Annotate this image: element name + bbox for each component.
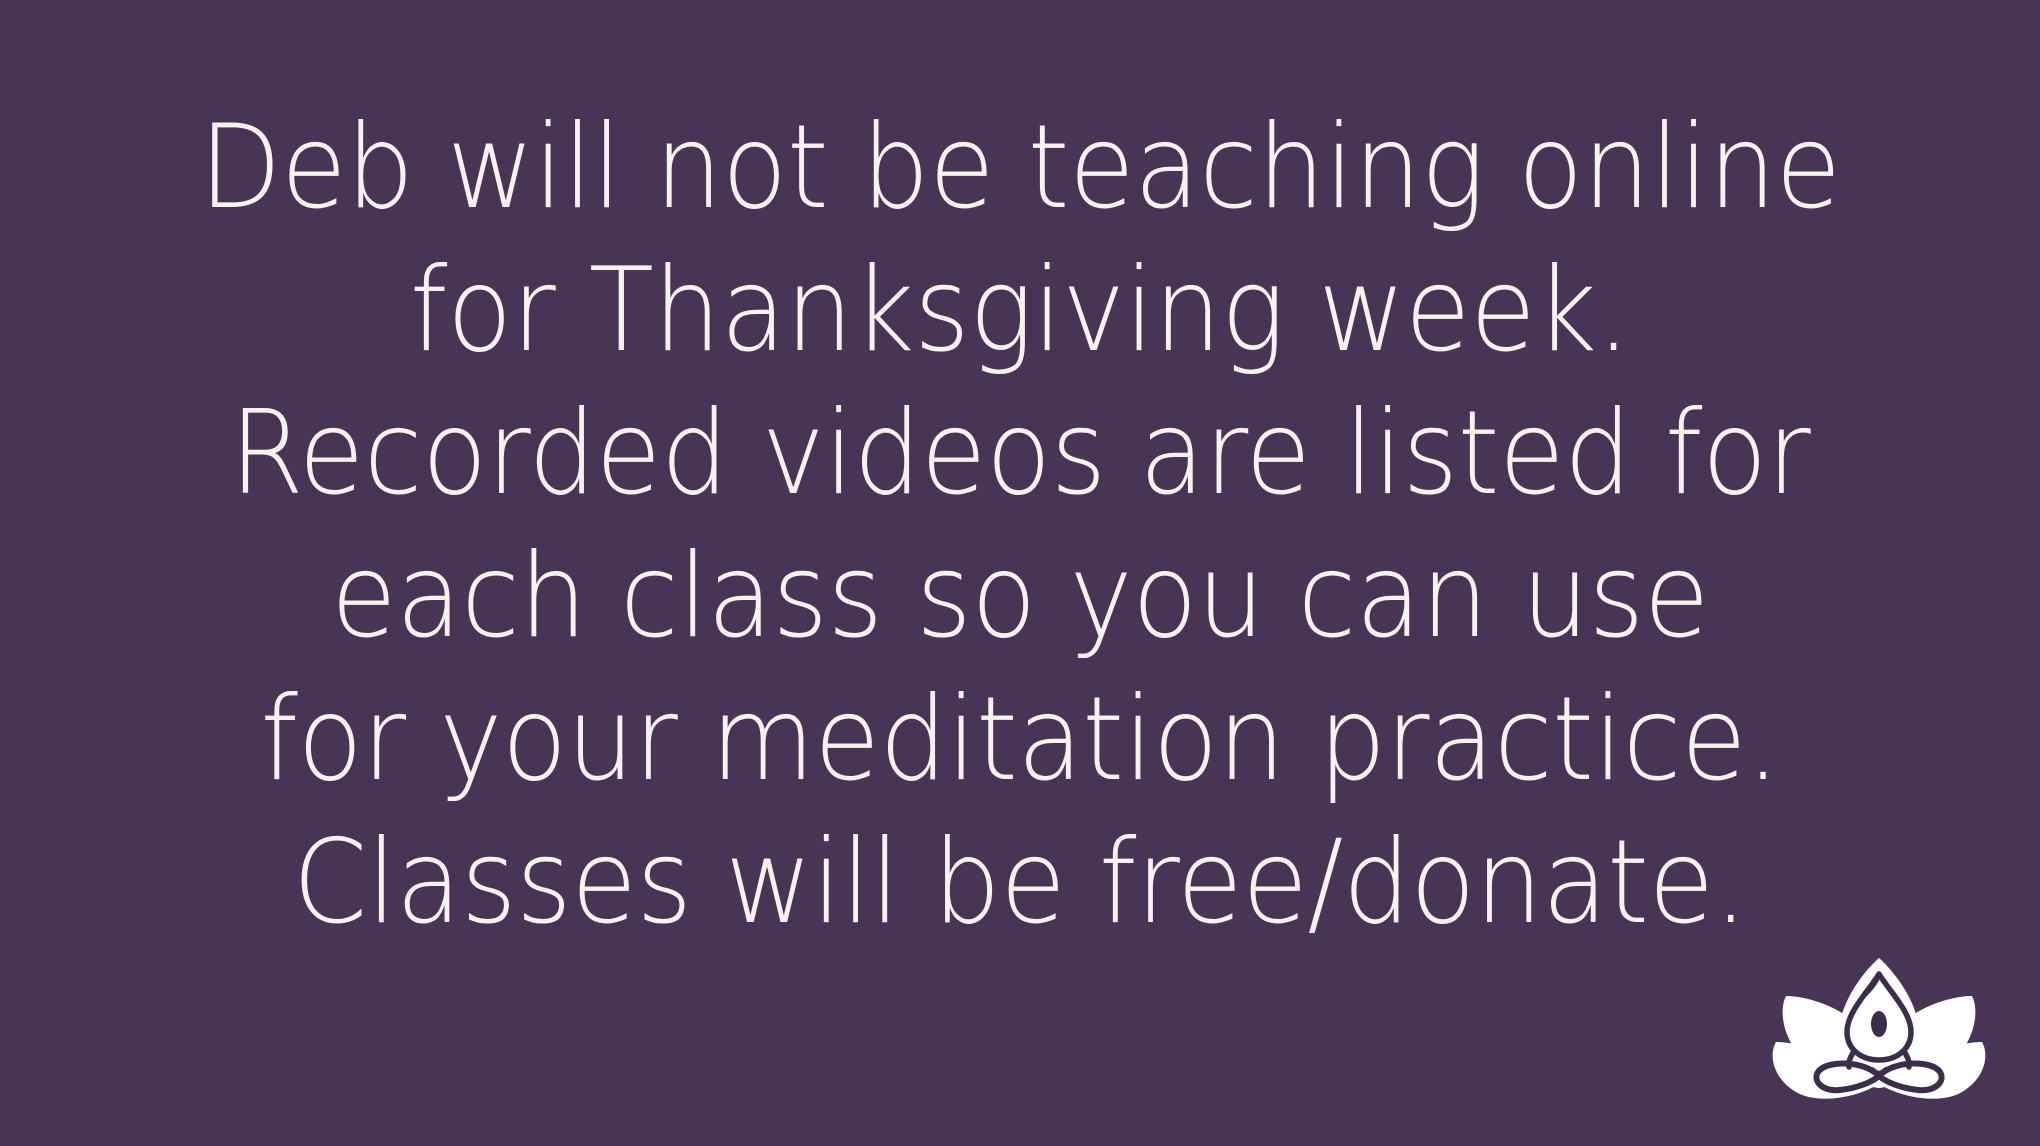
lotus-flame-icon (1768, 952, 1990, 1112)
announcement-line-5: for your meditation practice. (177, 668, 1862, 811)
announcement-line-1: Deb will not be teaching online (177, 96, 1862, 239)
announcement-text-block: Deb will not be teaching online for Than… (0, 0, 2040, 1146)
announcement-line-3: Recorded videos are listed for (177, 382, 1862, 525)
announcement-line-6: Classes will be free/donate. (177, 811, 1862, 954)
lotus-seed (1871, 1011, 1887, 1037)
announcement-line-2: for Thanksgiving week. (177, 239, 1862, 382)
announcement-slide: Deb will not be teaching online for Than… (0, 0, 2040, 1146)
announcement-line-4: each class so you can use (177, 525, 1862, 668)
